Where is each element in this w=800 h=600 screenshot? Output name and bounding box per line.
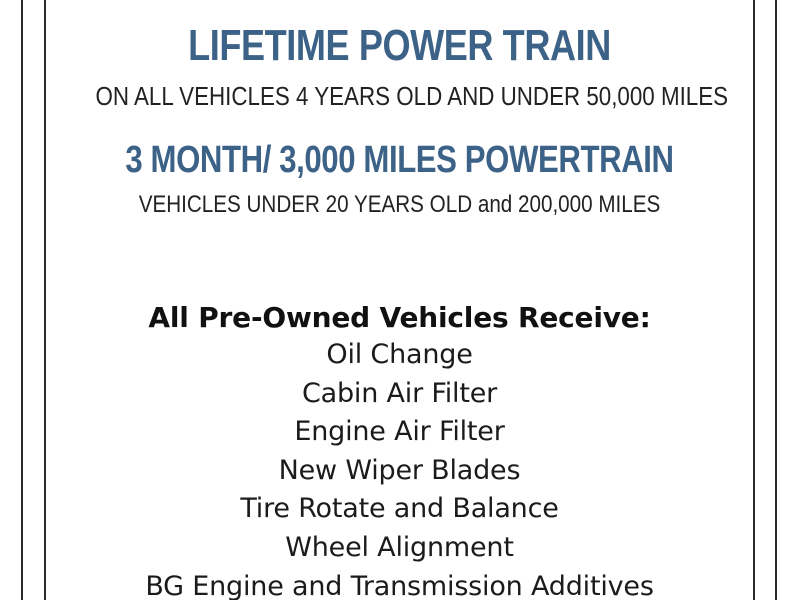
warranty-subline-3-month-powertrain: VEHICLES UNDER 20 YEARS OLD and 200,000 … <box>95 193 703 217</box>
content-column: LIFETIME POWER TRAIN ON ALL VEHICLES 4 Y… <box>46 0 753 600</box>
services-block: All Pre-Owned Vehicles Receive: Oil Chan… <box>46 300 753 600</box>
warranty-headline-lifetime-power-train: LIFETIME POWER TRAIN <box>110 24 690 68</box>
border-rule-inner-right <box>753 0 755 600</box>
list-item: BG Engine and Transmission Additives <box>46 568 753 600</box>
warranty-headline-3-month-powertrain: 3 MONTH/ 3,000 MILES POWERTRAIN <box>110 141 690 179</box>
list-item: Cabin Air Filter <box>46 375 753 414</box>
list-item: Tire Rotate and Balance <box>46 490 753 529</box>
list-item: New Wiper Blades <box>46 452 753 491</box>
warranty-subline-lifetime-power-train: ON ALL VEHICLES 4 YEARS OLD AND UNDER 50… <box>95 83 703 109</box>
list-item: Engine Air Filter <box>46 413 753 452</box>
flyer-canvas: LIFETIME POWER TRAIN ON ALL VEHICLES 4 Y… <box>0 0 800 600</box>
services-list: Oil Change Cabin Air Filter Engine Air F… <box>46 336 753 600</box>
border-rule-outer-right <box>775 0 777 600</box>
services-heading: All Pre-Owned Vehicles Receive: <box>46 300 753 336</box>
list-item: Wheel Alignment <box>46 529 753 568</box>
list-item: Oil Change <box>46 336 753 375</box>
border-rule-outer-left <box>21 0 23 600</box>
